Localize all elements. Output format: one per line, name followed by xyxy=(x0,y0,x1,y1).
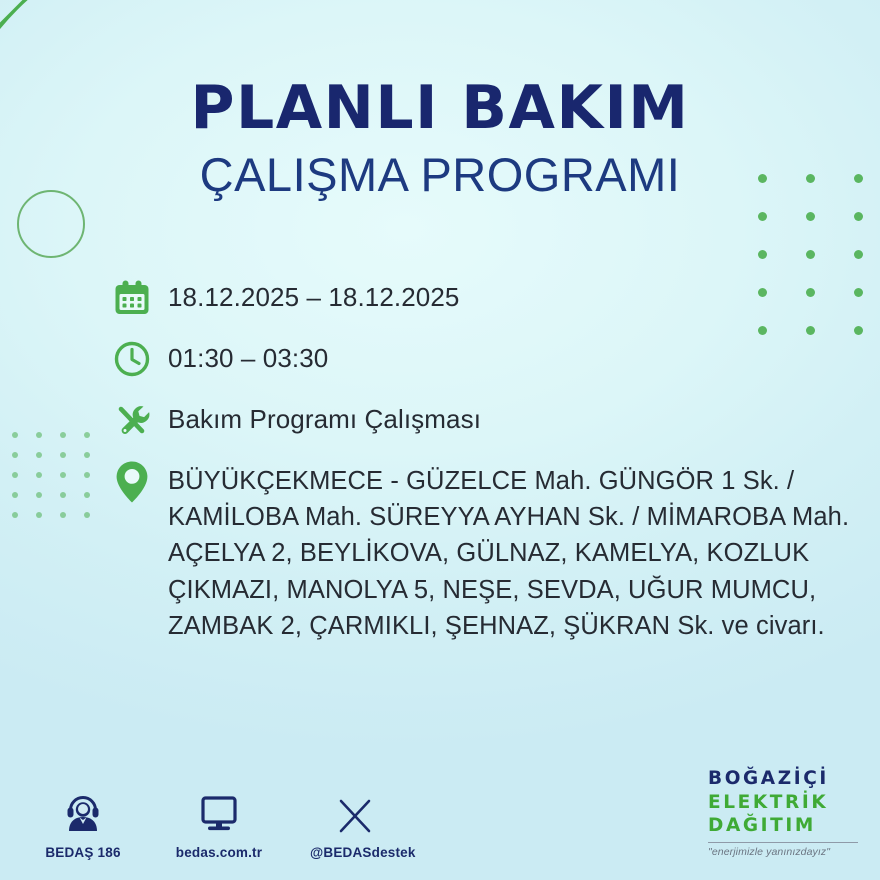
work-type-text: Bakım Programı Çalışması xyxy=(168,398,481,437)
footer-label-x-account: @BEDASdestek xyxy=(310,845,416,860)
location-text: BÜYÜKÇEKMECE - GÜZELCE Mah. GÜNGÖR 1 Sk.… xyxy=(168,459,860,644)
calendar-icon xyxy=(112,276,168,320)
footer-label-website: bedas.com.tr xyxy=(176,845,262,860)
info-row-time: 01:30 – 03:30 xyxy=(112,337,860,381)
info-row-date: 18.12.2025 – 18.12.2025 xyxy=(112,276,860,320)
page-subtitle: ÇALIŞMA PROGRAMI xyxy=(0,150,880,199)
circle-outline-decoration xyxy=(17,190,85,258)
info-row-location: BÜYÜKÇEKMECE - GÜZELCE Mah. GÜNGÖR 1 Sk.… xyxy=(112,459,860,644)
brand-line-bogazici: BOĞAZİÇİ xyxy=(708,767,858,791)
date-range-text: 18.12.2025 – 18.12.2025 xyxy=(168,276,459,315)
brand-divider xyxy=(708,842,858,843)
dot-grid-decoration-left xyxy=(12,432,108,532)
footer-label-call-center: BEDAŞ 186 xyxy=(45,845,120,860)
monitor-icon xyxy=(174,789,264,835)
info-list: 18.12.2025 – 18.12.2025 01:30 – 03:30 xyxy=(112,276,860,644)
brand-line-dagitim: DAĞITIM xyxy=(708,814,858,838)
page-title: PLANLI BAKIM xyxy=(0,78,880,138)
x-twitter-icon xyxy=(310,789,400,835)
call-center-agent-icon xyxy=(38,789,128,835)
footer-item-call-center[interactable]: BEDAŞ 186 xyxy=(38,789,128,862)
map-pin-icon xyxy=(112,459,168,505)
tools-icon xyxy=(112,398,168,442)
footer-item-x-account[interactable]: @BEDASdestek xyxy=(310,789,400,862)
maintenance-notice-poster: PLANLI BAKIM ÇALIŞMA PROGRAMI xyxy=(0,0,880,880)
poster-header: PLANLI BAKIM ÇALIŞMA PROGRAMI xyxy=(0,78,880,199)
brand-line-elektrik: ELEKTRİK xyxy=(708,791,858,815)
brand-tagline: "enerjimizle yanınızdayız" xyxy=(708,846,858,858)
footer-item-website[interactable]: bedas.com.tr xyxy=(174,789,264,862)
time-range-text: 01:30 – 03:30 xyxy=(168,337,328,376)
footer-contact-list: BEDAŞ 186 bedas.com.tr xyxy=(38,789,400,862)
brand-logo: BOĞAZİÇİ ELEKTRİK DAĞITIM "enerjimizle y… xyxy=(708,767,858,858)
info-row-work-type: Bakım Programı Çalışması xyxy=(112,398,860,442)
clock-icon xyxy=(112,337,168,381)
